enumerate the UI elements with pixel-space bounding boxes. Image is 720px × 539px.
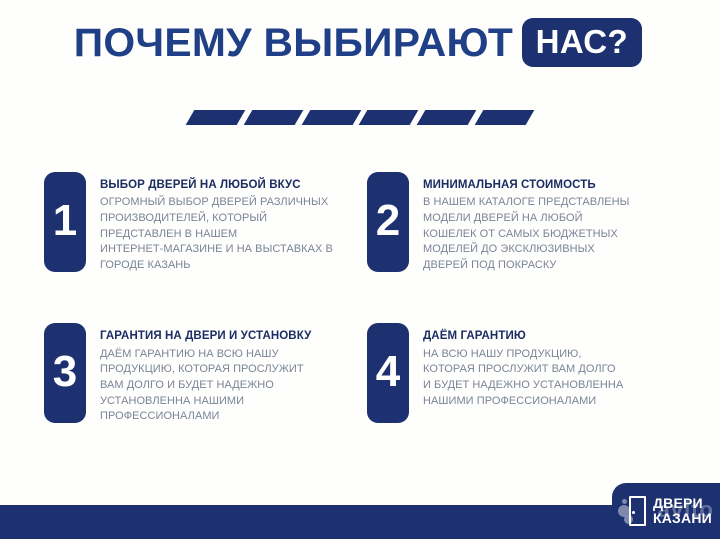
feature-text: МИНИМАЛЬНАЯ СТОИМОСТЬ В НАШЕМ КАТАЛОГЕ П… bbox=[423, 172, 629, 273]
divider-bar bbox=[186, 110, 245, 125]
feature-body-line: КОШЕЛЕК ОТ САМЫХ БЮДЖЕТНЫХ bbox=[423, 227, 629, 243]
poster-root: ПОЧЕМУ ВЫБИРАЮТ НАС? 1 ВЫБОР ДВЕРЕЙ НА Л… bbox=[0, 0, 720, 539]
feature-body-line: НА ВСЮ НАШУ ПРОДУКЦИЮ, bbox=[423, 347, 623, 363]
door-icon-knob bbox=[632, 511, 635, 514]
divider-bar bbox=[359, 110, 418, 125]
brand-logo-text: ДВЕРИ КАЗАНИ bbox=[653, 496, 712, 525]
feature-body: НА ВСЮ НАШУ ПРОДУКЦИЮ, КОТОРАЯ ПРОСЛУЖИТ… bbox=[423, 347, 623, 409]
feature-body-line: ГОРОДЕ КАЗАНЬ bbox=[100, 258, 333, 274]
divider-bar bbox=[417, 110, 476, 125]
brand-logo-line1: ДВЕРИ bbox=[653, 496, 712, 511]
feature-body: В НАШЕМ КАТАЛОГЕ ПРЕДСТАВЛЕНЫ МОДЕЛИ ДВЕ… bbox=[423, 195, 629, 273]
page-title: ПОЧЕМУ ВЫБИРАЮТ НАС? bbox=[0, 18, 720, 67]
feature-grid: 1 ВЫБОР ДВЕРЕЙ НА ЛЮБОЙ ВКУС ОГРОМНЫЙ ВЫ… bbox=[44, 172, 680, 425]
feature-body-line: ПРЕДСТАВЛЕН В НАШЕМ bbox=[100, 227, 333, 243]
feature-body-line: МОДЕЛИ ДВЕРЕЙ НА ЛЮБОЙ bbox=[423, 211, 629, 227]
brand-logo-line2: КАЗАНИ bbox=[653, 511, 712, 526]
feature-body-line: В НАШЕМ КАТАЛОГЕ ПРЕДСТАВЛЕНЫ bbox=[423, 195, 629, 211]
divider-stripes bbox=[190, 110, 530, 130]
feature-title: МИНИМАЛЬНАЯ СТОИМОСТЬ bbox=[423, 178, 629, 192]
divider-bar bbox=[475, 110, 534, 125]
divider-bar bbox=[243, 110, 302, 125]
feature-body-line: ДВЕРЕЙ ПОД ПОКРАСКУ bbox=[423, 258, 629, 274]
door-icon bbox=[622, 496, 648, 526]
feature-number-badge: 4 bbox=[367, 323, 409, 423]
feature-body-line: МОДЕЛЕЙ ДО ЭКСКЛЮЗИВНЫХ bbox=[423, 242, 629, 258]
feature-body-line: КОТОРАЯ ПРОСЛУЖИТ ВАМ ДОЛГО bbox=[423, 362, 623, 378]
feature-body-line: ДАЁМ ГАРАНТИЮ НА ВСЮ НАШУ bbox=[100, 347, 311, 363]
feature-body-line: ВАМ ДОЛГО И БУДЕТ НАДЕЖНО bbox=[100, 378, 311, 394]
feature-title: ВЫБОР ДВЕРЕЙ НА ЛЮБОЙ ВКУС bbox=[100, 178, 333, 192]
feature-title: ГАРАНТИЯ НА ДВЕРИ И УСТАНОВКУ bbox=[100, 329, 311, 343]
feature-body-line: УСТАНОВЛЕННА НАШИМИ bbox=[100, 394, 311, 410]
page-title-badge: НАС? bbox=[522, 18, 642, 67]
feature-item-4: 4 ДАЁМ ГАРАНТИЮ НА ВСЮ НАШУ ПРОДУКЦИЮ, К… bbox=[367, 323, 680, 424]
feature-body: ОГРОМНЫЙ ВЫБОР ДВЕРЕЙ РАЗЛИЧНЫХ ПРОИЗВОД… bbox=[100, 195, 333, 273]
feature-number-badge: 2 bbox=[367, 172, 409, 272]
feature-body-line: ПРОИЗВОДИТЕЛЕЙ, КОТОРЫЙ bbox=[100, 211, 333, 227]
feature-body-line: ПРОДУКЦИЮ, КОТОРАЯ ПРОСЛУЖИТ bbox=[100, 362, 311, 378]
feature-body-line: НАШИМИ ПРОФЕССИОНАЛАМИ bbox=[423, 394, 623, 410]
divider-bar bbox=[301, 110, 360, 125]
feature-item-1: 1 ВЫБОР ДВЕРЕЙ НА ЛЮБОЙ ВКУС ОГРОМНЫЙ ВЫ… bbox=[44, 172, 357, 273]
feature-number-badge: 3 bbox=[44, 323, 86, 423]
feature-body: ДАЁМ ГАРАНТИЮ НА ВСЮ НАШУ ПРОДУКЦИЮ, КОТ… bbox=[100, 347, 311, 425]
feature-body-line: ИНТЕРНЕТ-МАГАЗИНЕ И НА ВЫСТАВКАХ В bbox=[100, 242, 333, 258]
door-icon-dot bbox=[622, 499, 627, 504]
feature-text: ГАРАНТИЯ НА ДВЕРИ И УСТАНОВКУ ДАЁМ ГАРАН… bbox=[100, 323, 311, 424]
feature-text: ВЫБОР ДВЕРЕЙ НА ЛЮБОЙ ВКУС ОГРОМНЫЙ ВЫБО… bbox=[100, 172, 333, 273]
page-title-main: ПОЧЕМУ ВЫБИРАЮТ bbox=[74, 23, 513, 63]
feature-item-3: 3 ГАРАНТИЯ НА ДВЕРИ И УСТАНОВКУ ДАЁМ ГАР… bbox=[44, 323, 357, 424]
feature-body-line: И БУДЕТ НАДЕЖНО УСТАНОВЛЕННА bbox=[423, 378, 623, 394]
feature-title: ДАЁМ ГАРАНТИЮ bbox=[423, 329, 623, 343]
feature-body-line: ОГРОМНЫЙ ВЫБОР ДВЕРЕЙ РАЗЛИЧНЫХ bbox=[100, 195, 333, 211]
feature-number-badge: 1 bbox=[44, 172, 86, 272]
feature-text: ДАЁМ ГАРАНТИЮ НА ВСЮ НАШУ ПРОДУКЦИЮ, КОТ… bbox=[423, 323, 623, 409]
brand-logo: ДВЕРИ КАЗАНИ bbox=[612, 483, 720, 539]
feature-body-line: ПРОФЕССИОНАЛАМИ bbox=[100, 409, 311, 425]
feature-item-2: 2 МИНИМАЛЬНАЯ СТОИМОСТЬ В НАШЕМ КАТАЛОГЕ… bbox=[367, 172, 680, 273]
